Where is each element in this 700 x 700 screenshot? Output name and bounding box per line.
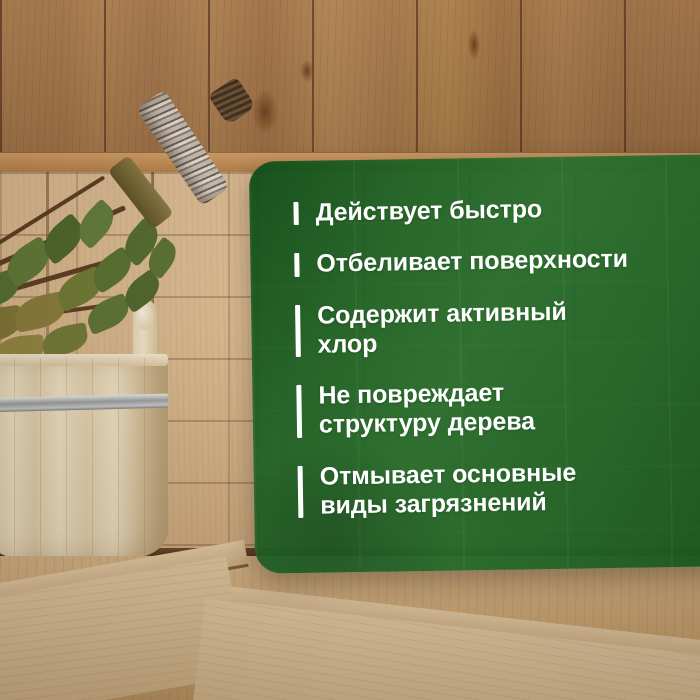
feature-label: Не повреждает структуру дерева [318, 378, 535, 440]
wood-knot-icon [300, 60, 314, 82]
feature-list-card: Действует быстро Отбеливает поверхности … [249, 154, 700, 573]
sauna-bucket [0, 358, 168, 558]
bucket-staves [0, 358, 168, 558]
birch-broom-leaves [0, 200, 185, 375]
feature-bullet-bar [293, 202, 298, 225]
wood-knot-icon [468, 30, 480, 60]
feature-bullet-bar [295, 304, 301, 357]
feature-label: Отмывает основные виды загрязнений [320, 458, 577, 521]
feature-item-2: Отбеливает поверхности [294, 244, 698, 280]
feature-bullet-bar [296, 385, 302, 438]
feature-item-3: Содержит активный хлор [295, 295, 700, 360]
feature-item-1: Действует быстро [293, 193, 697, 229]
feature-bullet-bar [294, 253, 299, 276]
screenshot-root: Действует быстро Отбеливает поверхности … [0, 0, 700, 700]
wall-top-planks [0, 0, 700, 160]
feature-list: Действует быстро Отбеливает поверхности … [293, 193, 700, 521]
feature-label: Отбеливает поверхности [316, 245, 628, 279]
feature-label: Действует быстро [315, 195, 542, 228]
feature-item-5: Отмывает основные виды загрязнений [298, 456, 700, 521]
feature-item-4: Не повреждает структуру дерева [296, 376, 700, 441]
feature-label: Содержит активный хлор [317, 297, 567, 359]
wood-grain-texture [0, 0, 700, 160]
wood-knot-icon [252, 90, 278, 134]
feature-bullet-bar [298, 465, 304, 518]
